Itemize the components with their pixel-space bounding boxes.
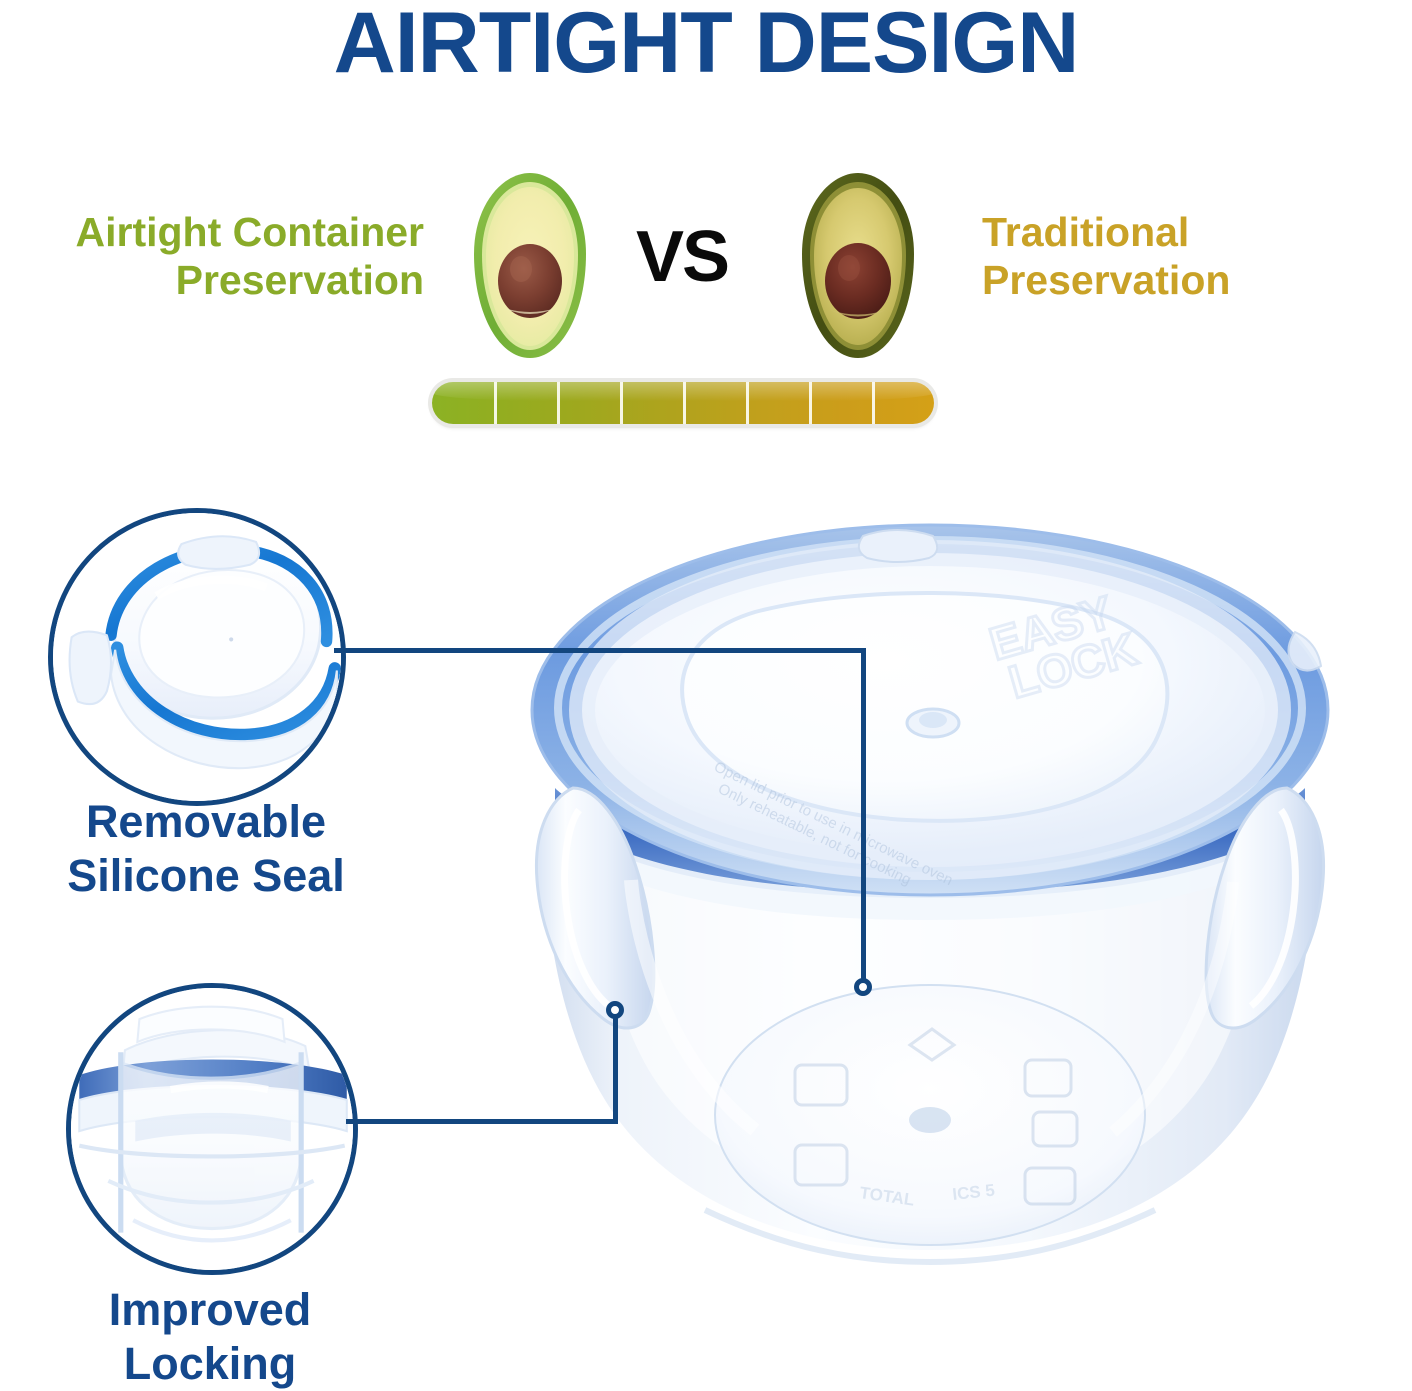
callout-seal-line1: Removable — [10, 795, 402, 849]
callout-improved-locking-label: Improved Locking — [20, 1283, 400, 1391]
callout-lock-line2: Locking — [20, 1337, 400, 1391]
avocado-oxidized-icon — [780, 168, 936, 364]
callout-seal-line2: Silicone Seal — [10, 849, 402, 903]
comparison-left-label: Airtight Container Preservation — [12, 208, 424, 305]
versus-label: VS — [622, 216, 742, 298]
leader-dot-seal — [854, 978, 872, 996]
leader-line-lock-horizontal — [346, 1119, 618, 1124]
leader-dot-lock — [606, 1001, 624, 1019]
callout-silicone-seal-label: Removable Silicone Seal — [10, 795, 402, 903]
infographic-canvas: AIRTIGHT DESIGN Airtight Container Prese… — [0, 0, 1412, 1391]
page-title: AIRTIGHT DESIGN — [0, 0, 1412, 93]
callout-silicone-seal-detail — [48, 508, 346, 806]
callout-lock-line1: Improved — [20, 1283, 400, 1337]
leader-line-seal-horizontal — [334, 648, 866, 653]
avocado-fresh-icon — [452, 168, 608, 364]
leader-line-lock-vertical — [613, 1012, 618, 1124]
comparison-right-label: Traditional Preservation — [982, 208, 1402, 305]
callout-improved-locking-detail — [66, 983, 358, 1275]
product-container-image: TOTAL ICS 5 EASY LOCK — [455, 520, 1405, 1320]
leader-line-seal-vertical — [861, 648, 866, 988]
freshness-gradient-bar — [432, 382, 934, 424]
